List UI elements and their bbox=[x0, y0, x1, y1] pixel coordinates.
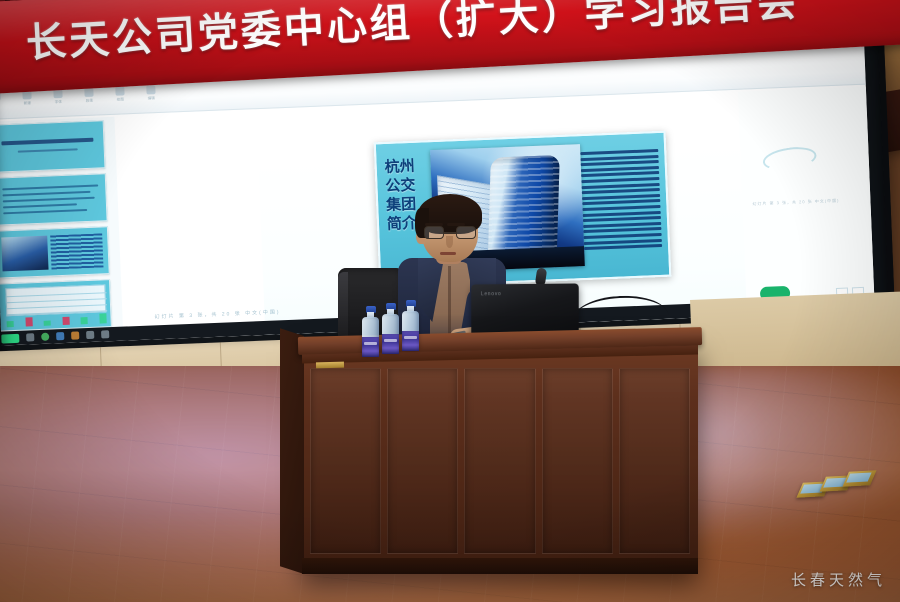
thumb-body-line bbox=[2, 185, 98, 191]
loading-spinner-icon bbox=[761, 144, 818, 174]
bottle-label bbox=[382, 334, 399, 354]
bottle-body bbox=[382, 314, 399, 351]
ribbon-group-drawing[interactable]: 绘图 bbox=[115, 86, 125, 102]
slide-thumbnail-1[interactable] bbox=[0, 120, 106, 172]
ime-icon[interactable] bbox=[101, 330, 109, 338]
ribbon-group-paste[interactable]: 粘贴 bbox=[0, 91, 1, 107]
water-bottle-1 bbox=[362, 306, 379, 354]
water-bottle-3 bbox=[402, 300, 419, 348]
browser-icon[interactable] bbox=[41, 333, 49, 341]
ribbon-group-font[interactable]: 字体 bbox=[53, 89, 63, 105]
bottle-body bbox=[362, 317, 379, 354]
ribbon-group-label-2: 字体 bbox=[55, 100, 62, 105]
podium-panel-group bbox=[310, 368, 690, 554]
slide-body-text bbox=[580, 143, 663, 272]
shirt-placket bbox=[448, 266, 451, 342]
slide-thumbnail-2[interactable] bbox=[0, 173, 108, 225]
slide-thumbnail-3[interactable] bbox=[0, 226, 110, 278]
start-button-icon[interactable] bbox=[1, 333, 19, 343]
podium-base bbox=[302, 558, 698, 574]
ribbon-group-new-slide[interactable]: 新建 bbox=[22, 90, 32, 106]
photo-scene: 文件 开始 插入 设计 切换 动画 幻灯片放映 审阅 视图 粘贴 bbox=[0, 0, 900, 602]
bottle-body bbox=[402, 311, 419, 348]
search-icon[interactable] bbox=[26, 333, 34, 341]
ribbon-group-editing[interactable]: 编辑 bbox=[146, 85, 156, 101]
podium-side-face bbox=[280, 328, 304, 574]
paragraph-icon bbox=[84, 88, 93, 97]
laptop-brand-label: Lenovo bbox=[481, 291, 502, 297]
folder-icon[interactable] bbox=[56, 332, 64, 340]
water-bottle-2 bbox=[382, 303, 399, 351]
thumb-sub-line bbox=[18, 148, 78, 152]
ribbon-group-label-5: 编辑 bbox=[148, 96, 155, 101]
thumb-building-image bbox=[1, 236, 48, 272]
watermark: 长春天然气 bbox=[791, 569, 886, 590]
ribbon-group-label-1: 新建 bbox=[24, 101, 31, 106]
thumb-body-line bbox=[2, 191, 90, 197]
thumb-table bbox=[5, 284, 106, 316]
thumb-body-line bbox=[3, 209, 87, 214]
thumb-title-line bbox=[1, 138, 93, 146]
thumb-body-line bbox=[3, 203, 77, 208]
ribbon-group-paragraph[interactable]: 段落 bbox=[84, 88, 94, 104]
thumb-body-line bbox=[3, 197, 95, 203]
mail-icon[interactable] bbox=[71, 331, 79, 339]
ribbon-group-label-3: 段落 bbox=[86, 99, 93, 104]
podium bbox=[302, 342, 698, 574]
presenter-nose bbox=[446, 236, 453, 248]
slide-thumbnail-pane[interactable] bbox=[0, 117, 123, 346]
powerpoint-icon[interactable] bbox=[86, 331, 94, 339]
notes-placeholder-text: 幻灯片 第 3 张，共 20 张 中文(中国) bbox=[752, 197, 852, 207]
presenter-mouth bbox=[440, 252, 456, 255]
notes-pane[interactable]: 幻灯片 第 3 张，共 20 张 中文(中国) bbox=[738, 87, 875, 316]
slide-thumbnail-4[interactable] bbox=[0, 279, 112, 331]
bottle-label bbox=[362, 337, 379, 357]
ribbon-group-label-4: 绘图 bbox=[117, 97, 124, 102]
shapes-icon bbox=[115, 86, 124, 95]
bottle-label bbox=[402, 331, 419, 351]
thumb-text-block bbox=[50, 233, 103, 269]
find-icon bbox=[146, 85, 155, 94]
